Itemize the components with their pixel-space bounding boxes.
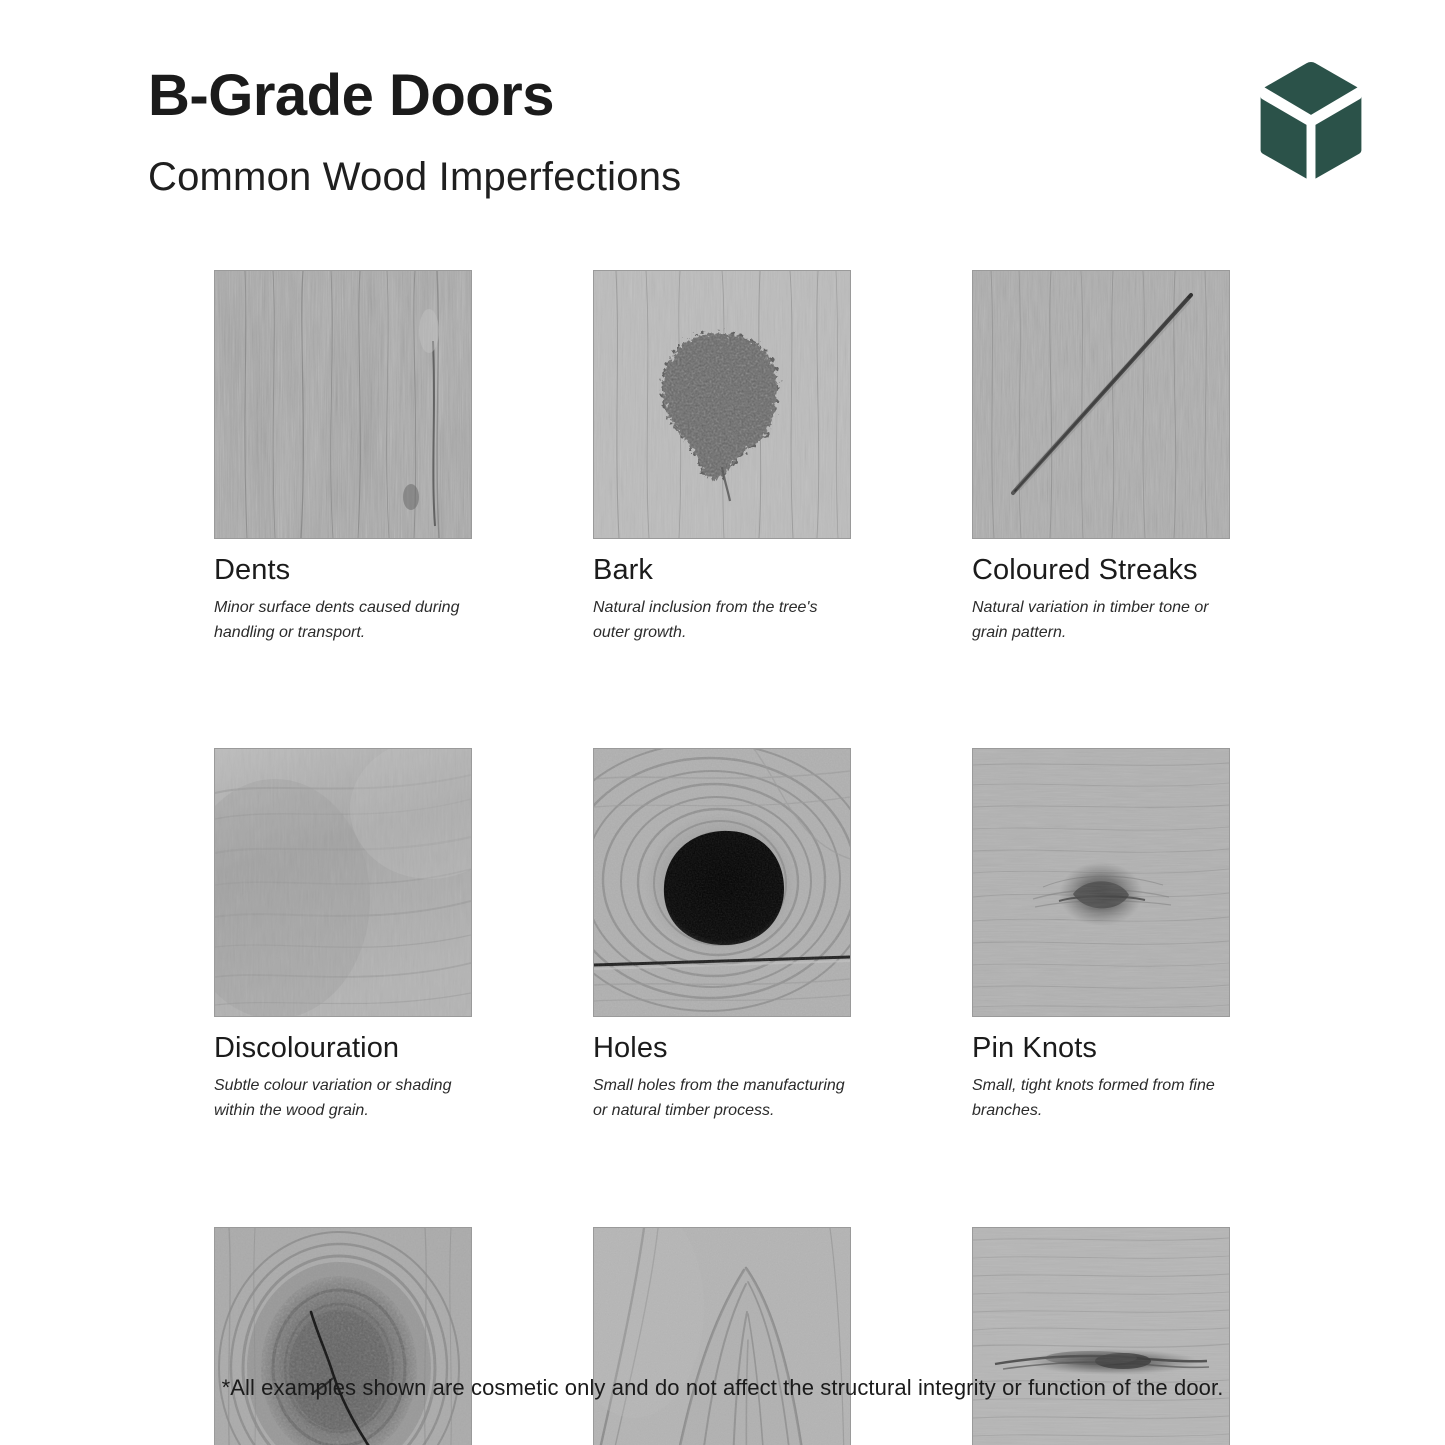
swatch-holes <box>593 748 851 1017</box>
swatch-streaks <box>593 1227 851 1445</box>
card-title: Coloured Streaks <box>972 539 1230 587</box>
page-subtitle: Common Wood Imperfections <box>148 127 1365 199</box>
swatch-sound-knots <box>214 1227 472 1445</box>
card-title: Bark <box>593 539 851 587</box>
card-description: Natural inclusion from the tree's outer … <box>593 587 851 646</box>
swatch-coloured-streaks <box>972 270 1230 539</box>
card-discolouration: Discolouration Subtle colour variation o… <box>214 748 472 1123</box>
page-title: B-Grade Doors <box>148 66 1365 127</box>
card-title: Holes <box>593 1017 851 1065</box>
cube-logo-icon <box>1261 62 1362 179</box>
header: B-Grade Doors Common Wood Imperfections <box>148 66 1365 199</box>
card-description: Small, tight knots formed from fine bran… <box>972 1065 1230 1124</box>
card-description: Minor surface dents caused during handli… <box>214 587 472 646</box>
imperfections-grid: Dents Minor surface dents caused during … <box>214 270 1230 1445</box>
cube-logo <box>1255 58 1367 184</box>
card-streaks: Streaks Visible grain or mineral streaks… <box>593 1227 851 1445</box>
card-sound-knots: Sound Knots Solid, stable knots that do … <box>214 1227 472 1445</box>
swatch-discolouration <box>214 748 472 1017</box>
infographic-page: B-Grade Doors Common Wood Imperfections <box>0 0 1445 1445</box>
footnote: *All examples shown are cosmetic only an… <box>0 1375 1445 1401</box>
card-coloured-streaks: Coloured Streaks Natural variation in ti… <box>972 270 1230 645</box>
card-title: Pin Knots <box>972 1017 1230 1065</box>
swatch-worm-holes <box>972 1227 1230 1445</box>
card-description: Subtle colour variation or shading withi… <box>214 1065 472 1124</box>
card-dents: Dents Minor surface dents caused during … <box>214 270 472 645</box>
card-title: Dents <box>214 539 472 587</box>
swatch-pin-knots <box>972 748 1230 1017</box>
card-holes: Holes Small holes from the manufacturing… <box>593 748 851 1123</box>
swatch-dents <box>214 270 472 539</box>
card-description: Natural variation in timber tone or grai… <box>972 587 1230 646</box>
swatch-bark <box>593 270 851 539</box>
card-bark: Bark Natural inclusion from the tree's o… <box>593 270 851 645</box>
card-description: Small holes from the manufacturing or na… <box>593 1065 851 1124</box>
card-worm-holes: Worm Holes Small historic marks from nat… <box>972 1227 1230 1445</box>
card-pin-knots: Pin Knots Small, tight knots formed from… <box>972 748 1230 1123</box>
card-title: Discolouration <box>214 1017 472 1065</box>
